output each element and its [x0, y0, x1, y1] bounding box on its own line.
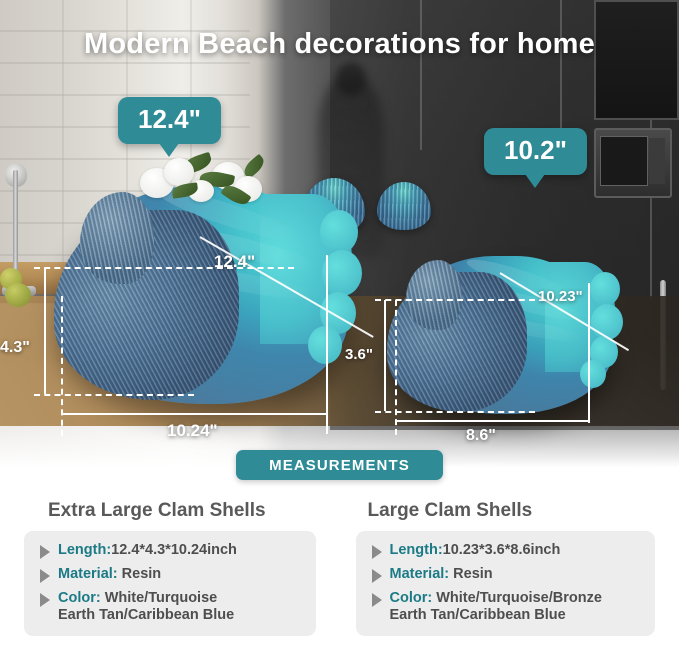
spec-length-text: Length:12.4*4.3*10.24inch — [58, 542, 237, 559]
spec-key: Color: — [390, 590, 433, 606]
spec-row-color: Color: White/Turquoise/BronzeEarth Tan/C… — [368, 590, 644, 624]
small-shell-length-badge: 10.2" — [484, 128, 587, 175]
spec-key: Color: — [58, 590, 101, 606]
small-shell-left-guide — [395, 300, 397, 435]
spec-row-material: Material: Resin — [36, 566, 304, 583]
spec-color-line2: Earth Tan/Caribbean Blue — [390, 607, 566, 623]
small-shell-height-label: 3.6" — [345, 346, 373, 363]
shell-hinge-knob — [406, 260, 462, 330]
spec-material-text: Material: Resin — [390, 566, 493, 583]
spec-color-line2: Earth Tan/Caribbean Blue — [58, 607, 234, 623]
spec-key: Material: — [390, 566, 450, 582]
product-infographic: 12.4" 4.3" 10.24" 10.23" 3.6" 8.6" Moder… — [0, 0, 679, 654]
microwave-appliance — [594, 128, 672, 198]
large-shell-left-guide — [61, 296, 63, 436]
shell-scallop — [320, 210, 358, 254]
spec-value: White/Turquoise/Bronze — [432, 590, 602, 606]
spec-material-text: Material: Resin — [58, 566, 161, 583]
flower-petal — [164, 158, 194, 186]
spec-value: Resin — [449, 566, 493, 582]
shell-scallop — [322, 250, 362, 296]
small-shell-right-guide — [588, 283, 590, 423]
large-shell-height-line — [44, 268, 46, 394]
triangle-bullet-icon — [372, 545, 382, 559]
spec-column-large: Large Clam Shells Length:10.23*3.6*8.6in… — [340, 492, 679, 654]
small-shell-width-line — [395, 420, 589, 422]
spec-title-large: Large Clam Shells — [368, 500, 656, 522]
spec-box-large: Length:10.23*3.6*8.6inch Material: Resin… — [356, 531, 656, 636]
spec-key: Material: — [58, 566, 118, 582]
small-shell-diagonal-label: 10.23" — [538, 288, 583, 305]
triangle-bullet-icon — [372, 593, 382, 607]
spec-value: 12.4*4.3*10.24inch — [111, 542, 237, 558]
spec-value: 10.23*3.6*8.6inch — [443, 542, 561, 558]
spec-color-text: Color: White/TurquoiseEarth Tan/Caribbea… — [58, 590, 234, 624]
spec-column-extra-large: Extra Large Clam Shells Length:12.4*4.3*… — [0, 492, 340, 654]
large-shell-height-label: 4.3" — [0, 339, 30, 357]
large-shell-width-line — [61, 413, 327, 415]
flower-arrangement — [138, 154, 266, 212]
microwave-control-panel — [649, 138, 665, 184]
large-shell-bottom-guide — [34, 394, 194, 396]
spec-title-extra-large: Extra Large Clam Shells — [48, 500, 316, 522]
shell-scallop — [308, 326, 342, 364]
spec-length-text: Length:10.23*3.6*8.6inch — [390, 542, 561, 559]
spec-row-length: Length:10.23*3.6*8.6inch — [368, 542, 644, 559]
spec-value: White/Turquoise — [101, 590, 218, 606]
triangle-bullet-icon — [40, 569, 50, 583]
extra-large-clam-shell — [58, 186, 348, 404]
small-shell-bottom-guide — [375, 411, 535, 413]
spec-row-color: Color: White/TurquoiseEarth Tan/Caribbea… — [36, 590, 304, 624]
shell-scallop — [580, 360, 606, 388]
spec-key: Length: — [58, 542, 111, 558]
cabinet-seam — [420, 0, 422, 150]
spec-box-extra-large: Length:12.4*4.3*10.24inch Material: Resi… — [24, 531, 316, 636]
large-shell-width-label: 10.24" — [167, 421, 218, 441]
large-clam-shell — [390, 256, 612, 414]
large-shell-diagonal-label: 12.4" — [214, 252, 255, 272]
hero-photo: 12.4" 4.3" 10.24" 10.23" 3.6" 8.6" Moder… — [0, 0, 679, 482]
microwave-window — [600, 136, 648, 186]
fruit-decor — [5, 283, 31, 307]
small-shell-top-guide — [375, 299, 535, 301]
measurements-banner: MEASUREMENTS — [236, 450, 443, 480]
shell-scallop — [591, 304, 623, 340]
spec-row-material: Material: Resin — [368, 566, 644, 583]
triangle-bullet-icon — [372, 569, 382, 583]
triangle-bullet-icon — [40, 545, 50, 559]
spec-key: Length: — [390, 542, 443, 558]
large-shell-length-badge: 12.4" — [118, 97, 221, 144]
triangle-bullet-icon — [40, 593, 50, 607]
shell-scallop — [590, 272, 620, 306]
large-shell-right-guide — [326, 255, 328, 434]
large-shell-top-guide — [34, 267, 294, 269]
spec-panels: Extra Large Clam Shells Length:12.4*4.3*… — [0, 492, 679, 654]
small-shell-width-label: 8.6" — [466, 427, 496, 445]
spec-row-length: Length:12.4*4.3*10.24inch — [36, 542, 304, 559]
spec-value: Resin — [118, 566, 162, 582]
spec-color-text: Color: White/Turquoise/BronzeEarth Tan/C… — [390, 590, 602, 624]
page-title: Modern Beach decorations for home — [0, 28, 679, 61]
small-shell-height-line — [384, 300, 386, 411]
